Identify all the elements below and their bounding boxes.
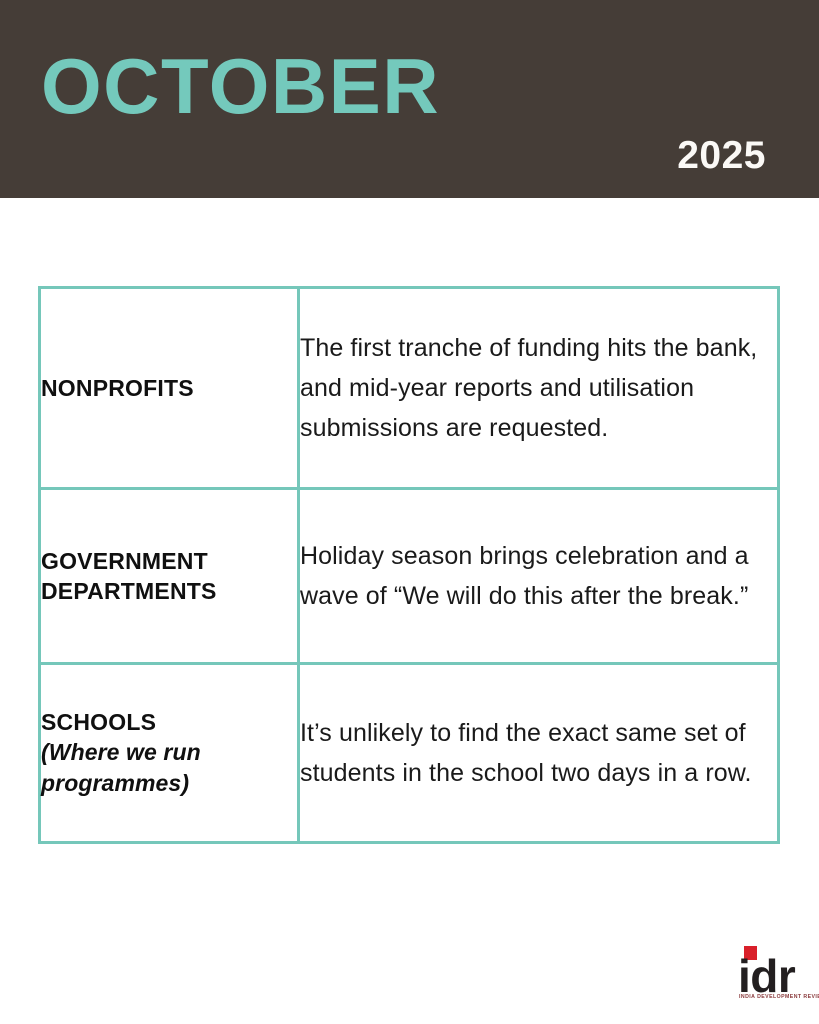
page-title-year: 2025 [677,136,766,175]
table-cell-label: GOVERNMENT DEPARTMENTS [40,489,299,664]
idr-logo: idr INDIA DEVELOPMENT REVIEW [738,946,812,1008]
table-cell-description: Holiday season brings celebration and a … [299,489,779,664]
sector-label: SCHOOLS [41,707,297,737]
logo-wordmark: idr [738,953,795,999]
table-row: NONPROFITS The first tranche of funding … [40,288,779,489]
sector-description: Holiday season brings celebration and a … [300,536,777,616]
sector-label: NONPROFITS [41,373,297,403]
table-cell-description: The first tranche of funding hits the ba… [299,288,779,489]
table-row: SCHOOLS (Where we run programmes) It’s u… [40,664,779,843]
table-row: GOVERNMENT DEPARTMENTS Holiday season br… [40,489,779,664]
sector-timeline-table: NONPROFITS The first tranche of funding … [38,286,780,844]
table-cell-label: NONPROFITS [40,288,299,489]
sector-sublabel: (Where we run programmes) [41,737,297,799]
header-band: OCTOBER 2025 [0,0,819,198]
sector-description: The first tranche of funding hits the ba… [300,328,777,448]
sector-label: GOVERNMENT DEPARTMENTS [41,546,297,606]
sector-description: It’s unlikely to find the exact same set… [300,713,777,793]
table-cell-description: It’s unlikely to find the exact same set… [299,664,779,843]
table-cell-label: SCHOOLS (Where we run programmes) [40,664,299,843]
logo-tagline: INDIA DEVELOPMENT REVIEW [739,994,813,1001]
page-title-month: OCTOBER [41,47,440,125]
